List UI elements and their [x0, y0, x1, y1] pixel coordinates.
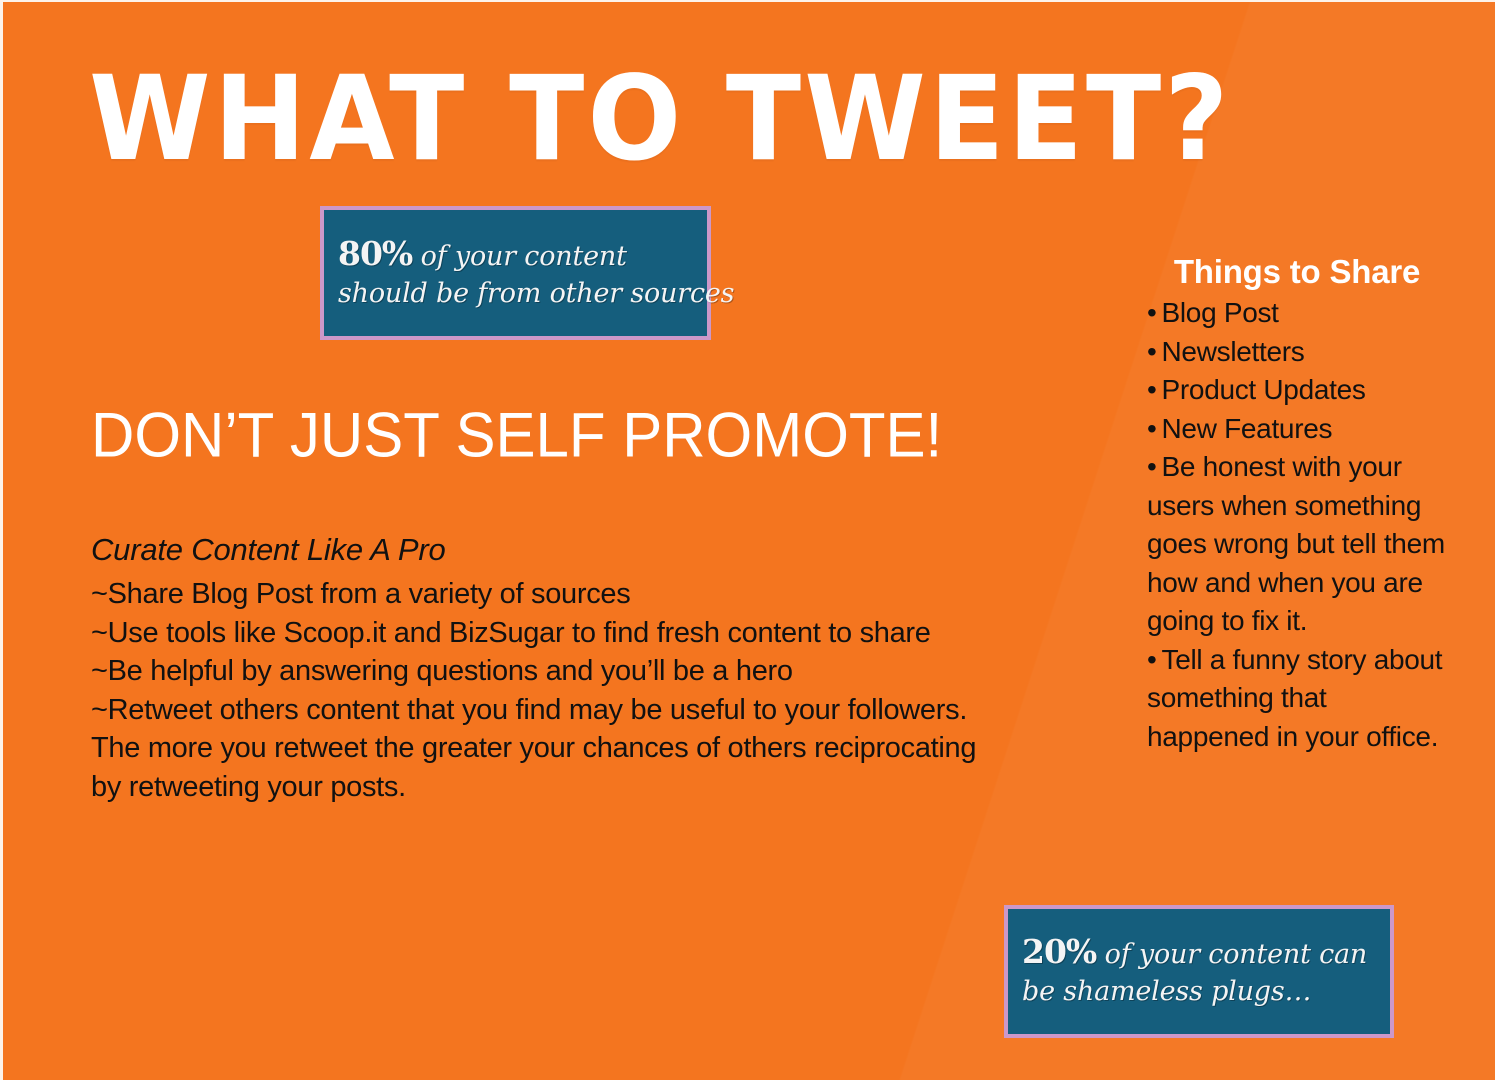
list-item-label: Be honest with your users when something… — [1147, 451, 1445, 636]
fact-box-line-1: 20% of your content can — [1008, 933, 1390, 973]
list-item: •Product Updates — [1147, 371, 1447, 410]
list-item: •Tell a funny story about something that… — [1147, 641, 1447, 757]
fact-box-twenty-percent: 20% of your content can be shameless plu… — [1004, 905, 1394, 1038]
bullet-icon: • — [1147, 336, 1157, 367]
bullet-icon: • — [1147, 413, 1157, 444]
bullet-icon: • — [1147, 297, 1157, 328]
list-item-label: Blog Post — [1162, 297, 1279, 328]
list-item-label: Product Updates — [1162, 374, 1366, 405]
list-item-label: Tell a funny story about something that … — [1147, 644, 1442, 752]
body-copy-block: Curate Content Like A Pro ~Share Blog Po… — [91, 530, 1011, 806]
list-item-label: New Features — [1162, 413, 1333, 444]
headline-dont-just-self-promote: DON’T JUST SELF PROMOTE! — [91, 400, 942, 471]
things-to-share-column: Things to Share •Blog Post •Newsletters … — [1147, 252, 1447, 756]
slide-canvas: WHAT TO TWEET? 80% of your content shoul… — [0, 0, 1495, 1080]
things-to-share-list: •Blog Post •Newsletters •Product Updates… — [1147, 294, 1447, 756]
body-subheading: Curate Content Like A Pro — [91, 530, 1011, 570]
fact-line-1-text: of your content can — [1096, 939, 1367, 970]
fact-line-1-text: of your content — [412, 241, 626, 272]
list-item: •Be honest with your users when somethin… — [1147, 448, 1447, 641]
list-item: •Blog Post — [1147, 294, 1447, 333]
bullet-icon: • — [1147, 374, 1157, 405]
fact-box-line-2: be shameless plugs… — [1008, 973, 1390, 1010]
fact-box-line-2: should be from other sources — [324, 275, 707, 312]
things-to-share-heading: Things to Share — [1147, 252, 1447, 292]
list-item-label: Newsletters — [1162, 336, 1305, 367]
list-item: •Newsletters — [1147, 333, 1447, 372]
page-title: WHAT TO TWEET? — [89, 58, 1232, 179]
body-line-1: ~Share Blog Post from a variety of sourc… — [91, 575, 1011, 614]
bullet-icon: • — [1147, 644, 1157, 675]
fact-box-eighty-percent: 80% of your content should be from other… — [320, 206, 711, 340]
body-line-3: ~Be helpful by answering questions and y… — [91, 652, 1011, 691]
fact-percent-value: 80% — [338, 234, 412, 273]
fact-percent-value: 20% — [1022, 932, 1096, 971]
body-line-2: ~Use tools like Scoop.it and BizSugar to… — [91, 614, 1011, 653]
body-line-4: ~Retweet others content that you find ma… — [91, 691, 1011, 807]
list-item: •New Features — [1147, 410, 1447, 449]
bullet-icon: • — [1147, 451, 1157, 482]
fact-box-line-1: 80% of your content — [324, 235, 707, 275]
